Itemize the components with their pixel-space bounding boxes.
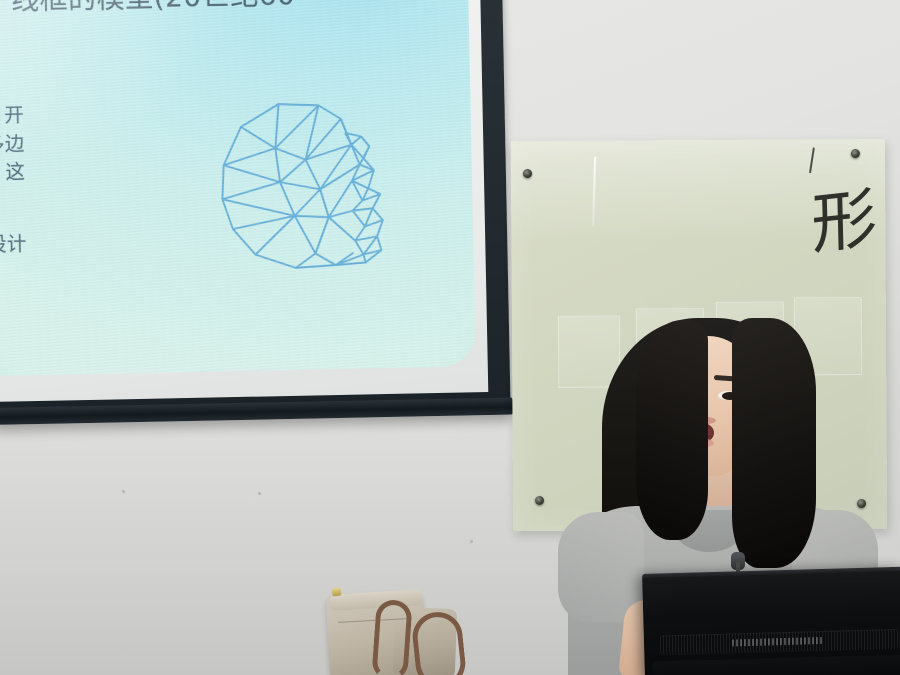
- wireframe-head-model: [200, 84, 414, 288]
- slide-body-line-4: 型成为线框模型。: [0, 184, 179, 219]
- whiteboard-screw: [523, 169, 532, 178]
- whiteboard-handwriting: 形: [811, 185, 878, 259]
- monitor-back-panel: [642, 571, 900, 675]
- handbag-strap: [371, 599, 412, 675]
- projection-screen-surface: 发展的 段 – 基于线框的模型(20世纪60 ） 算机技术的进步，开 通过连接线…: [0, 0, 488, 402]
- monitor-lower-panel: [653, 655, 900, 675]
- classroom-photo-scene: 发展的 段 – 基于线框的模型(20世纪60 ） 算机技术的进步，开 通过连接线…: [0, 0, 900, 675]
- wall-speck: [470, 540, 473, 543]
- projection-screen: 发展的 段 – 基于线框的模型(20世纪60 ） 算机技术的进步，开 通过连接线…: [0, 0, 511, 454]
- handbag: [318, 578, 478, 675]
- slide-body-paragraph-1: 算机技术的进步，开 通过连接线段和多边 简单的三维实体，这 型成为线框模型。: [0, 98, 179, 219]
- wall-speck: [258, 492, 261, 495]
- slide-heading: 段 – 基于线框的模型(20世纪60 ）: [0, 0, 413, 65]
- projected-slide: 发展的 段 – 基于线框的模型(20世纪60 ） 算机技术的进步，开 通过连接线…: [0, 0, 476, 377]
- hair-front-left: [636, 320, 708, 540]
- wall-speck: [122, 490, 125, 493]
- handbag-strap: [410, 610, 468, 675]
- slide-body-paragraph-2: 机图形学和工程设计 来革命性的变革。: [0, 227, 180, 291]
- slide-body-text: 算机技术的进步，开 通过连接线段和多边 简单的三维实体，这 型成为线框模型。 机…: [0, 98, 180, 305]
- computer-monitor-rear: [642, 565, 900, 675]
- slide-heading-line-2: ）: [0, 13, 413, 65]
- projection-screen-frame: 发展的 段 – 基于线框的模型(20世纪60 ） 算机技术的进步，开 通过连接线…: [0, 0, 511, 414]
- slide-body-line-6: 来革命性的变革。: [0, 255, 180, 290]
- handbag-zipper-pull: [331, 587, 341, 596]
- whiteboard-screw: [851, 149, 860, 158]
- whiteboard-screw: [535, 496, 544, 505]
- hair-front-right: [732, 318, 816, 568]
